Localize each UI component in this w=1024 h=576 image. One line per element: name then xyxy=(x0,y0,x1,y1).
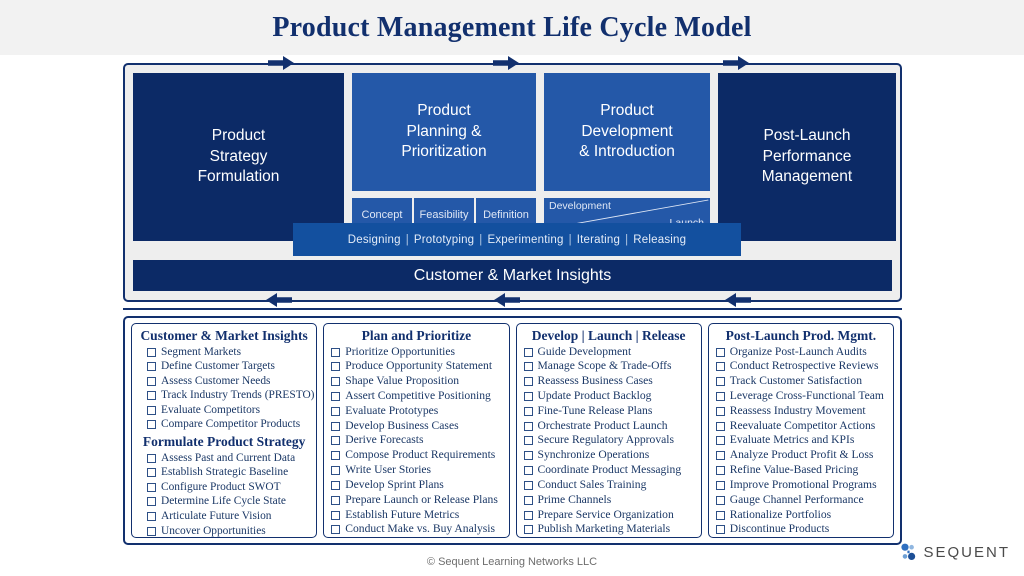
checkbox-icon[interactable] xyxy=(524,362,533,371)
list-item[interactable]: Compose Product Requirements xyxy=(329,448,503,463)
list-item[interactable]: Organize Post-Launch Audits xyxy=(714,345,888,360)
list-item-label: Determine Life Cycle State xyxy=(161,494,286,509)
list-item[interactable]: Gauge Channel Performance xyxy=(714,493,888,508)
list-item[interactable]: Secure Regulatory Approvals xyxy=(522,433,696,448)
list-item-label: Develop Sprint Plans xyxy=(345,478,444,493)
checkbox-icon[interactable] xyxy=(147,527,156,536)
list-item-label: Prioritize Opportunities xyxy=(345,345,455,360)
list-item-label: Articulate Future Vision xyxy=(161,509,271,524)
checkbox-icon[interactable] xyxy=(524,407,533,416)
list-item-label: Discontinue Products xyxy=(730,522,830,537)
checkbox-icon[interactable] xyxy=(716,362,725,371)
stage-label-strategy: ProductStrategyFormulation xyxy=(198,126,280,189)
list-item[interactable]: Assess Customer Needs xyxy=(137,374,311,389)
list-item[interactable]: Evaluate Prototypes xyxy=(329,404,503,419)
checkbox-icon[interactable] xyxy=(524,377,533,386)
list-item-label: Leverage Cross-Functional Team xyxy=(730,389,884,404)
list-item[interactable]: Configure Product SWOT xyxy=(137,480,311,495)
checkbox-icon[interactable] xyxy=(331,481,340,490)
list-item-label: Prepare Launch or Release Plans xyxy=(345,493,498,508)
list-item-label: Update Product Backlog xyxy=(538,389,652,404)
checkbox-icon[interactable] xyxy=(716,377,725,386)
list-item[interactable]: Reassess Business Cases xyxy=(522,374,696,389)
substage-concept-label: Concept xyxy=(362,209,403,221)
stage-row: ProductStrategyFormulation ProductPlanni… xyxy=(133,73,896,241)
list-item-label: Reevaluate Competitor Actions xyxy=(730,419,876,434)
list-item[interactable]: Articulate Future Vision xyxy=(137,509,311,524)
list-item-label: Gauge Channel Performance xyxy=(730,493,864,508)
list-heading: Customer & Market Insights xyxy=(137,328,311,344)
list-item-label: Configure Product SWOT xyxy=(161,480,281,495)
checkbox-icon[interactable] xyxy=(331,422,340,431)
activity-experimenting: Experimenting xyxy=(487,234,563,246)
checkbox-icon[interactable] xyxy=(331,436,340,445)
list-item-label: Orchestrate Product Launch xyxy=(538,419,668,434)
activity-separator: | xyxy=(401,234,414,246)
list-item-label: Reassess Industry Movement xyxy=(730,404,866,419)
sequent-mark-icon xyxy=(900,542,917,562)
list-item[interactable]: Assess Past and Current Data xyxy=(137,451,311,466)
stage-column-development: ProductDevelopment& Introduction Develop… xyxy=(544,73,710,241)
stage-label-planning: ProductPlanning &Prioritization xyxy=(401,101,486,164)
list-item[interactable]: Conduct Make vs. Buy Analysis xyxy=(329,522,503,537)
checkbox-icon[interactable] xyxy=(331,496,340,505)
list-item[interactable]: Develop Business Cases xyxy=(329,419,503,434)
checkbox-icon[interactable] xyxy=(331,392,340,401)
checkbox-icon[interactable] xyxy=(716,481,725,490)
list-item-label: Evaluate Prototypes xyxy=(345,404,438,419)
checkbox-icon[interactable] xyxy=(716,407,725,416)
list-item[interactable]: Rationalize Portfolios xyxy=(714,508,888,523)
list-item[interactable]: Determine Life Cycle State xyxy=(137,494,311,509)
arrow-left-icon xyxy=(725,293,751,307)
list-item-label: Prepare Service Organization xyxy=(538,508,674,523)
checkbox-icon[interactable] xyxy=(716,525,725,534)
checkbox-icon[interactable] xyxy=(524,511,533,520)
checkbox-icon[interactable] xyxy=(716,466,725,475)
checkbox-icon[interactable] xyxy=(331,348,340,357)
list-item[interactable]: Segment Markets xyxy=(137,345,311,360)
list-item-label: Assess Past and Current Data xyxy=(161,451,295,466)
arrow-right-icon xyxy=(268,56,294,70)
checkbox-icon[interactable] xyxy=(524,496,533,505)
substage-feasibility-label: Feasibility xyxy=(420,209,469,221)
customer-market-insights-label: Customer & Market Insights xyxy=(414,267,611,285)
checkbox-icon[interactable] xyxy=(716,451,725,460)
list-column-develop-launch-release: Develop | Launch | Release Guide Develop… xyxy=(516,323,702,538)
list-item-label: Manage Scope & Trade-Offs xyxy=(538,359,672,374)
checkbox-icon[interactable] xyxy=(331,377,340,386)
list-heading-secondary: Formulate Product Strategy xyxy=(137,434,311,450)
list-item[interactable]: Publish Marketing Materials xyxy=(522,522,696,537)
checkbox-icon[interactable] xyxy=(147,362,156,371)
list-item-label: Evaluate Competitors xyxy=(161,403,260,418)
list-item-label: Prime Channels xyxy=(538,493,612,508)
list-item-label: Secure Regulatory Approvals xyxy=(538,433,675,448)
list-item-label: Refine Value-Based Pricing xyxy=(730,463,859,478)
checkbox-icon[interactable] xyxy=(716,511,725,520)
stage-box-postlaunch[interactable]: Post-LaunchPerformanceManagement xyxy=(718,73,896,241)
list-item[interactable]: Derive Forecasts xyxy=(329,433,503,448)
checkbox-icon[interactable] xyxy=(331,407,340,416)
list-item-label: Conduct Retrospective Reviews xyxy=(730,359,879,374)
activity-prototyping: Prototyping xyxy=(414,234,474,246)
list-item[interactable]: Write User Stories xyxy=(329,463,503,478)
arrow-left-icon xyxy=(266,293,292,307)
list-item[interactable]: Analyze Product Profit & Loss xyxy=(714,448,888,463)
checkbox-icon[interactable] xyxy=(524,466,533,475)
list-item-label: Write User Stories xyxy=(345,463,431,478)
checkbox-icon[interactable] xyxy=(524,422,533,431)
stage-column-strategy: ProductStrategyFormulation xyxy=(133,73,344,241)
page-title: Product Management Life Cycle Model xyxy=(272,12,751,44)
list-item-label: Track Customer Satisfaction xyxy=(730,374,862,389)
stage-column-planning: ProductPlanning &Prioritization Concept … xyxy=(352,73,536,241)
list-item[interactable]: Prepare Launch or Release Plans xyxy=(329,493,503,508)
checkbox-icon[interactable] xyxy=(147,348,156,357)
list-item-label: Synchronize Operations xyxy=(538,448,650,463)
checkbox-icon[interactable] xyxy=(524,525,533,534)
list-item[interactable]: Track Industry Trends (PRESTO) xyxy=(137,388,311,403)
arrow-left-icon xyxy=(494,293,520,307)
list-item[interactable]: Conduct Retrospective Reviews xyxy=(714,359,888,374)
list-column-post-launch-prod-mgmt: Post-Launch Prod. Mgmt. Organize Post-La… xyxy=(708,323,894,538)
list-item-label: Reassess Business Cases xyxy=(538,374,653,389)
checkbox-icon[interactable] xyxy=(147,497,156,506)
list-item-label: Conduct Make vs. Buy Analysis xyxy=(345,522,495,537)
stage-box-development[interactable]: ProductDevelopment& Introduction xyxy=(544,73,710,191)
list-item[interactable]: Guide Development xyxy=(522,345,696,360)
arrow-right-icon xyxy=(493,56,519,70)
list-item[interactable]: Leverage Cross-Functional Team xyxy=(714,389,888,404)
checkbox-icon[interactable] xyxy=(716,496,725,505)
sequent-logo-text: SEQUENT xyxy=(923,544,1010,561)
stage-box-planning[interactable]: ProductPlanning &Prioritization xyxy=(352,73,536,191)
list-item-label: Define Customer Targets xyxy=(161,359,275,374)
list-item-label: Track Industry Trends (PRESTO) xyxy=(161,388,314,403)
activity-separator: | xyxy=(564,234,577,246)
list-item[interactable]: Improve Promotional Programs xyxy=(714,478,888,493)
list-item-label: Establish Future Metrics xyxy=(345,508,459,523)
checkbox-icon[interactable] xyxy=(147,454,156,463)
list-item[interactable]: Evaluate Competitors xyxy=(137,403,311,418)
stage-box-strategy[interactable]: ProductStrategyFormulation xyxy=(133,73,344,241)
list-item[interactable]: Fine-Tune Release Plans xyxy=(522,404,696,419)
customer-market-insights-band[interactable]: Customer & Market Insights xyxy=(133,260,892,291)
list-item-label: Coordinate Product Messaging xyxy=(538,463,682,478)
list-item-label: Shape Value Proposition xyxy=(345,374,459,389)
stage-label-postlaunch: Post-LaunchPerformanceManagement xyxy=(762,126,852,189)
sequent-logo: SEQUENT xyxy=(900,542,1010,562)
list-item[interactable]: Establish Strategic Baseline xyxy=(137,465,311,480)
stage-label-development: ProductDevelopment& Introduction xyxy=(579,101,675,164)
checkbox-icon[interactable] xyxy=(716,436,725,445)
list-item-label: Organize Post-Launch Audits xyxy=(730,345,867,360)
list-heading: Plan and Prioritize xyxy=(329,328,503,344)
list-item[interactable]: Evaluate Metrics and KPIs xyxy=(714,433,888,448)
activity-separator: | xyxy=(474,234,487,246)
list-item-label: Evaluate Metrics and KPIs xyxy=(730,433,855,448)
list-heading: Post-Launch Prod. Mgmt. xyxy=(714,328,888,344)
lifecycle-diagram-frame: ProductStrategyFormulation ProductPlanni… xyxy=(123,63,902,302)
checkbox-icon[interactable] xyxy=(331,525,340,534)
list-item[interactable]: Define Customer Targets xyxy=(137,359,311,374)
list-heading: Develop | Launch | Release xyxy=(522,328,696,344)
activity-iterating: Iterating xyxy=(577,234,620,246)
checkbox-icon[interactable] xyxy=(147,377,156,386)
checkbox-icon[interactable] xyxy=(524,348,533,357)
list-item-label: Develop Business Cases xyxy=(345,419,458,434)
list-item-label: Compare Competitor Products xyxy=(161,417,300,432)
list-column-plan-and-prioritize: Plan and Prioritize Prioritize Opportuni… xyxy=(323,323,509,538)
activity-releasing: Releasing xyxy=(633,234,686,246)
list-item[interactable]: Discontinue Products xyxy=(714,522,888,537)
checkbox-icon[interactable] xyxy=(716,348,725,357)
list-item[interactable]: Prioritize Opportunities xyxy=(329,345,503,360)
checkbox-icon[interactable] xyxy=(524,392,533,401)
list-item[interactable]: Reevaluate Competitor Actions xyxy=(714,419,888,434)
list-item-label: Rationalize Portfolios xyxy=(730,508,831,523)
list-item[interactable]: Assert Competitive Positioning xyxy=(329,389,503,404)
list-item[interactable]: Develop Sprint Plans xyxy=(329,478,503,493)
checkbox-icon[interactable] xyxy=(331,511,340,520)
list-item[interactable]: Track Customer Satisfaction xyxy=(714,374,888,389)
activity-designing: Designing xyxy=(348,234,401,246)
checkbox-icon[interactable] xyxy=(716,392,725,401)
list-item[interactable]: Orchestrate Product Launch xyxy=(522,419,696,434)
list-item[interactable]: Coordinate Product Messaging xyxy=(522,463,696,478)
title-band: Product Management Life Cycle Model xyxy=(0,0,1024,55)
list-item-label: Segment Markets xyxy=(161,345,241,360)
checkbox-icon[interactable] xyxy=(524,451,533,460)
list-item-label: Guide Development xyxy=(538,345,632,360)
substage-definition-label: Definition xyxy=(483,209,529,221)
list-item-label: Establish Strategic Baseline xyxy=(161,465,288,480)
list-item-label: Assess Customer Needs xyxy=(161,374,270,389)
activities-strip[interactable]: Designing | Prototyping | Experimenting … xyxy=(293,223,741,256)
list-item-label: Derive Forecasts xyxy=(345,433,423,448)
list-item-label: Uncover Opportunities xyxy=(161,524,266,538)
checkbox-icon[interactable] xyxy=(331,362,340,371)
checkbox-icon[interactable] xyxy=(147,420,156,429)
list-item-label: Publish Marketing Materials xyxy=(538,522,671,537)
list-item[interactable]: Refine Value-Based Pricing xyxy=(714,463,888,478)
stage-column-postlaunch: Post-LaunchPerformanceManagement xyxy=(718,73,896,241)
list-item[interactable]: Shape Value Proposition xyxy=(329,374,503,389)
list-item[interactable]: Manage Scope & Trade-Offs xyxy=(522,359,696,374)
checkbox-icon[interactable] xyxy=(331,466,340,475)
list-item-label: Improve Promotional Programs xyxy=(730,478,877,493)
list-item-label: Compose Product Requirements xyxy=(345,448,495,463)
checkbox-icon[interactable] xyxy=(147,406,156,415)
list-column-customer-market-insights: Customer & Market Insights Segment Marke… xyxy=(131,323,317,538)
checkbox-icon[interactable] xyxy=(147,468,156,477)
checkbox-icon[interactable] xyxy=(716,422,725,431)
copyright-notice: © Sequent Learning Networks LLC xyxy=(0,556,1024,568)
list-item[interactable]: Update Product Backlog xyxy=(522,389,696,404)
checkbox-icon[interactable] xyxy=(331,451,340,460)
arrow-right-icon xyxy=(723,56,749,70)
checkbox-icon[interactable] xyxy=(147,512,156,521)
list-item[interactable]: Prepare Service Organization xyxy=(522,508,696,523)
development-label: Development xyxy=(549,200,611,212)
list-item[interactable]: Prime Channels xyxy=(522,493,696,508)
list-item[interactable]: Conduct Sales Training xyxy=(522,478,696,493)
list-item-label: Fine-Tune Release Plans xyxy=(538,404,653,419)
list-item[interactable]: Compare Competitor Products xyxy=(137,417,311,432)
checkbox-icon[interactable] xyxy=(524,436,533,445)
feedback-rail-divider xyxy=(123,308,902,310)
list-item[interactable]: Reassess Industry Movement xyxy=(714,404,888,419)
list-item-label: Produce Opportunity Statement xyxy=(345,359,492,374)
checkbox-icon[interactable] xyxy=(524,481,533,490)
list-item[interactable]: Produce Opportunity Statement xyxy=(329,359,503,374)
list-item[interactable]: Uncover Opportunities xyxy=(137,524,311,538)
list-item[interactable]: Synchronize Operations xyxy=(522,448,696,463)
list-item-label: Conduct Sales Training xyxy=(538,478,647,493)
list-item[interactable]: Establish Future Metrics xyxy=(329,508,503,523)
list-item-label: Analyze Product Profit & Loss xyxy=(730,448,874,463)
checkbox-icon[interactable] xyxy=(147,483,156,492)
activity-lists-frame: Customer & Market Insights Segment Marke… xyxy=(123,316,902,545)
activity-separator: | xyxy=(620,234,633,246)
list-item-label: Assert Competitive Positioning xyxy=(345,389,491,404)
checkbox-icon[interactable] xyxy=(147,391,156,400)
